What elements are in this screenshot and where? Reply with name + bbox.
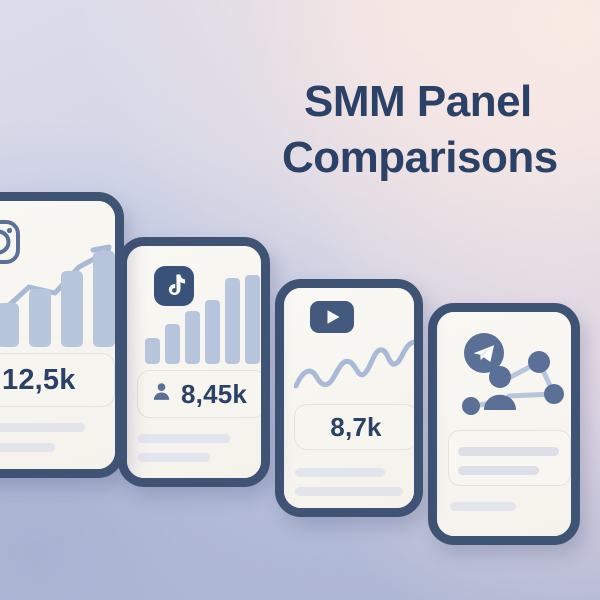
platform-card-youtube[interactable]: 8,7k: [275, 279, 423, 517]
bar-chart-instagram: [0, 237, 115, 354]
platform-card-tiktok[interactable]: 8,45k: [118, 237, 270, 487]
card-inner-tiktok: 8,45k: [127, 246, 261, 478]
metric-value-youtube: 8,7k: [330, 412, 381, 443]
metric-pill-youtube: 8,7k: [294, 404, 414, 450]
text-box-telegram: [448, 430, 571, 486]
placeholder-line: [458, 466, 539, 475]
page-title: SMM Panel Comparisons: [304, 74, 600, 187]
platform-card-instagram[interactable]: 12,5k: [0, 192, 124, 478]
metric-value-instagram: 12,5k: [2, 364, 76, 397]
line-chart-youtube: [294, 336, 414, 403]
card-inner-telegram: [437, 312, 571, 536]
page-title-line-1: SMM Panel: [304, 74, 600, 130]
metric-pill-tiktok: 8,45k: [137, 370, 261, 418]
placeholder-line: [450, 502, 516, 511]
network-graph-telegram: [455, 350, 571, 427]
placeholder-line: [138, 453, 210, 462]
placeholder-line: [0, 443, 55, 452]
placeholder-line: [458, 447, 559, 456]
placeholder-line: [0, 423, 85, 432]
card-inner-instagram: 12,5k: [0, 201, 115, 469]
youtube-icon: [310, 301, 354, 338]
metric-value-tiktok: 8,45k: [181, 379, 247, 410]
person-icon: [151, 381, 172, 407]
metric-pill-instagram: 12,5k: [0, 353, 115, 407]
bar-chart-tiktok: [143, 272, 261, 369]
placeholder-line: [295, 487, 403, 496]
card-inner-youtube: 8,7k: [284, 288, 414, 508]
placeholder-line: [138, 434, 230, 443]
page-title-line-2: Comparisons: [282, 130, 600, 186]
placeholder-line: [295, 468, 385, 477]
platform-card-telegram[interactable]: [428, 303, 580, 545]
